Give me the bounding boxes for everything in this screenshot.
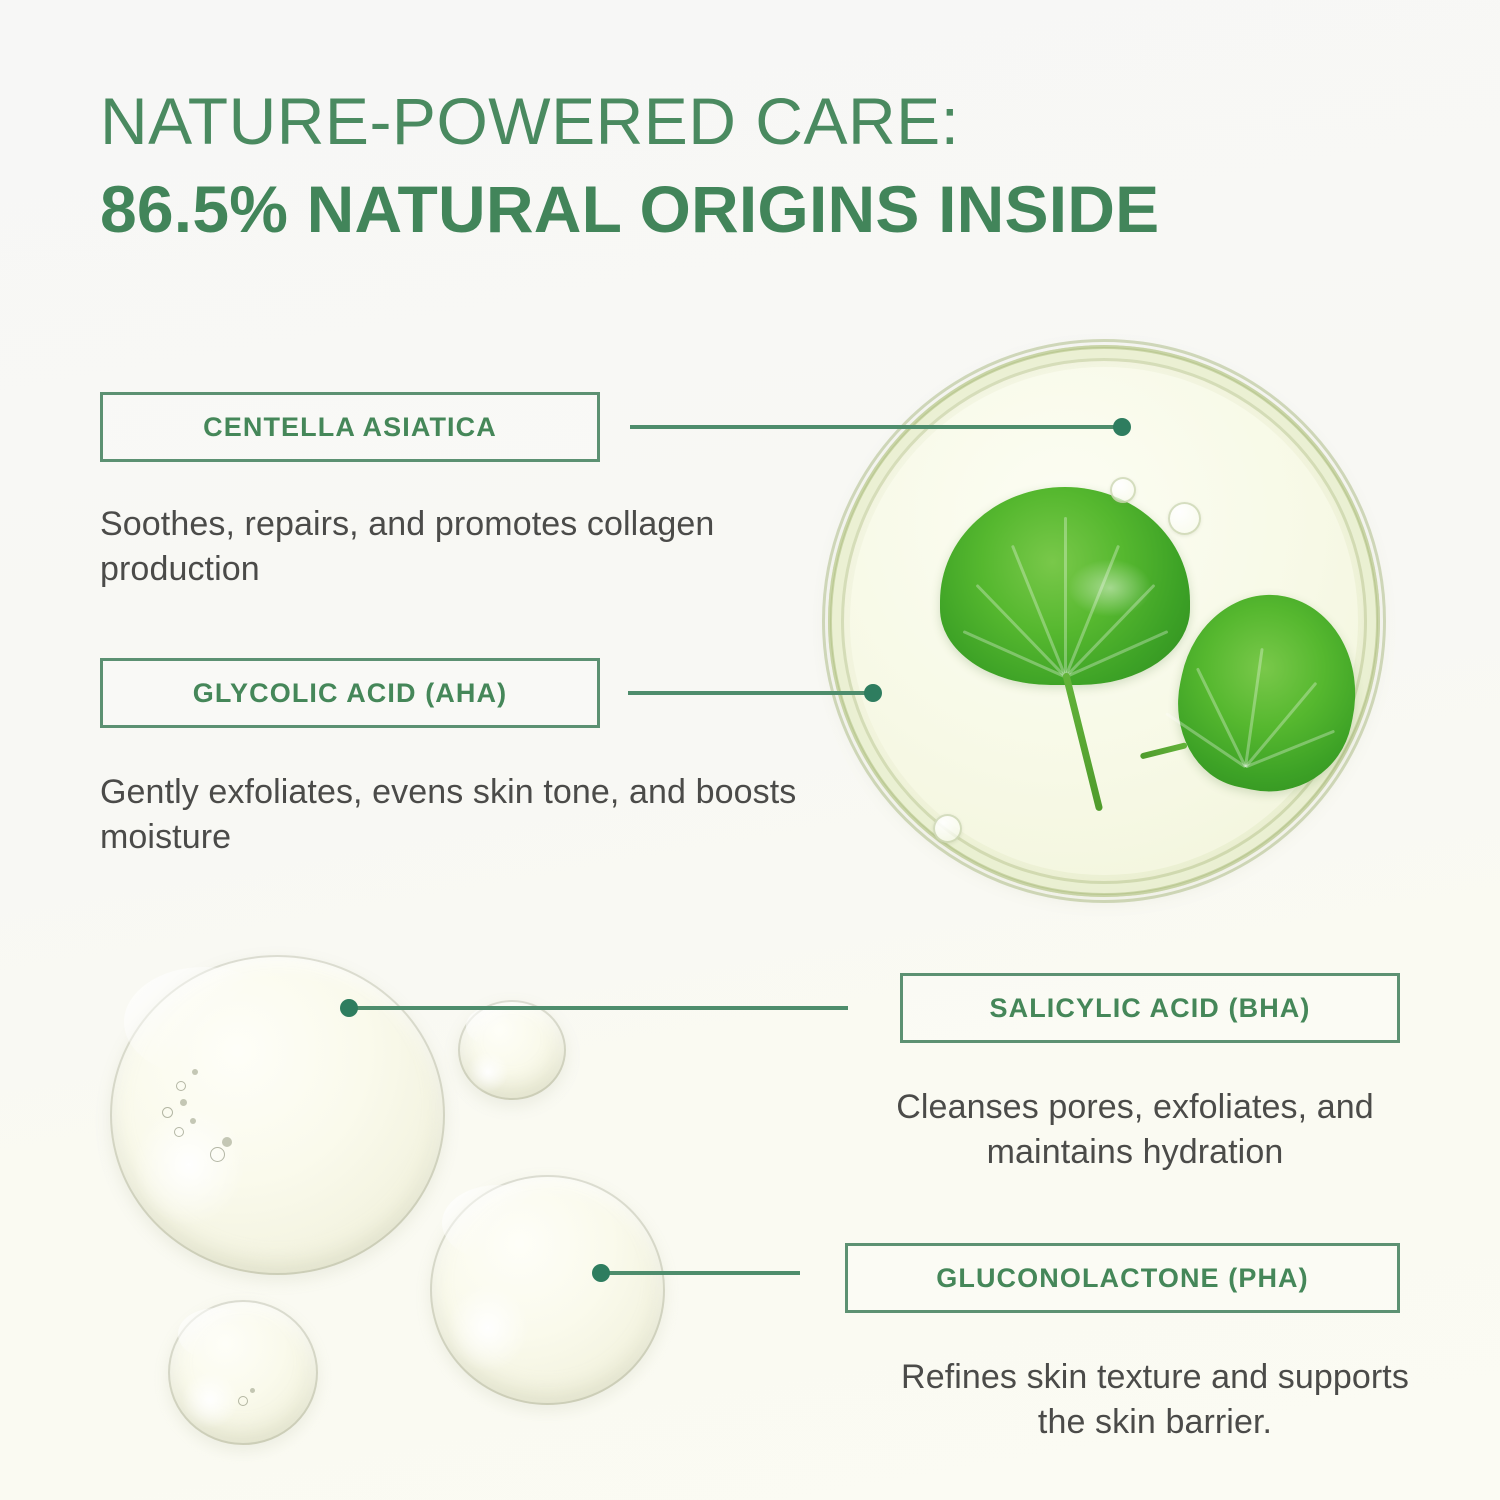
liquid-bubble [1110, 477, 1136, 503]
gel-droplet-small-upper [458, 1000, 566, 1100]
ingredient-description-salicylic: Cleanses pores, exfoliates, and maintain… [855, 1085, 1415, 1175]
gel-droplet-medium [430, 1175, 665, 1405]
droplet-microbubble [210, 1147, 225, 1162]
droplet-shine [448, 1285, 528, 1371]
liquid-bubble [933, 814, 962, 843]
ingredient-description-gluconolactone: Refines skin texture and supports the sk… [890, 1355, 1420, 1445]
connector-line-glycolic [628, 691, 878, 695]
gel-droplet-small-lower [168, 1300, 318, 1445]
droplet-microbubble [162, 1107, 173, 1118]
ingredient-label-text: GLUCONOLACTONE (PHA) [936, 1263, 1309, 1294]
connector-line-salicylic [348, 1006, 848, 1010]
droplet-microdot [192, 1069, 198, 1075]
droplet-shine [134, 1105, 244, 1225]
leaf-stem [1062, 672, 1103, 811]
page-title: NATURE-POWERED CARE: 86.5% NATURAL ORIGI… [100, 88, 1330, 242]
connector-dot-centella [1113, 418, 1131, 436]
droplet-edge-highlight [466, 1006, 524, 1046]
ingredient-label-centella[interactable]: CENTELLA ASIATICA [100, 392, 600, 462]
connector-dot-salicylic [340, 999, 358, 1017]
centella-leaf-large [940, 487, 1190, 817]
centella-leaf-small [1166, 595, 1356, 810]
droplet-edge-highlight [178, 1308, 254, 1360]
droplet-microbubble [238, 1396, 248, 1406]
leaf-vein [1064, 517, 1067, 677]
ingredient-label-glycolic[interactable]: GLYCOLIC ACID (AHA) [100, 658, 600, 728]
connector-dot-gluconolactone [592, 1264, 610, 1282]
connector-dot-glycolic [864, 684, 882, 702]
droplet-shine [468, 1052, 508, 1092]
droplet-microbubble [176, 1081, 186, 1091]
droplet-edge-highlight [442, 1185, 554, 1261]
droplet-microdot [250, 1388, 255, 1393]
ingredient-description-glycolic: Gently exfoliates, evens skin tone, and … [100, 770, 800, 860]
droplet-edge-highlight [124, 967, 284, 1077]
droplet-microdot [180, 1099, 187, 1106]
ingredient-description-centella: Soothes, repairs, and promotes collagen … [100, 502, 800, 592]
ingredient-label-gluconolactone[interactable]: GLUCONOLACTONE (PHA) [845, 1243, 1400, 1313]
ingredient-label-salicylic[interactable]: SALICYLIC ACID (BHA) [900, 973, 1400, 1043]
ingredient-label-text: GLYCOLIC ACID (AHA) [193, 678, 507, 709]
leaf-blade [1162, 579, 1375, 807]
liquid-bubble [1168, 502, 1201, 535]
title-line-2: 86.5% NATURAL ORIGINS INSIDE [100, 176, 1330, 242]
connector-line-centella [630, 425, 1120, 429]
droplet-microdot [190, 1118, 196, 1124]
connector-line-gluconolactone [600, 1271, 800, 1275]
ingredient-label-text: SALICYLIC ACID (BHA) [990, 993, 1311, 1024]
droplet-microbubble [174, 1127, 184, 1137]
droplet-shine [182, 1372, 238, 1428]
droplet-microdot [222, 1137, 232, 1147]
gel-droplet-large [110, 955, 445, 1275]
ingredient-label-text: CENTELLA ASIATICA [203, 412, 497, 443]
title-line-1: NATURE-POWERED CARE: [100, 88, 1330, 154]
infographic-canvas: NATURE-POWERED CARE: 86.5% NATURAL ORIGI… [0, 0, 1500, 1500]
